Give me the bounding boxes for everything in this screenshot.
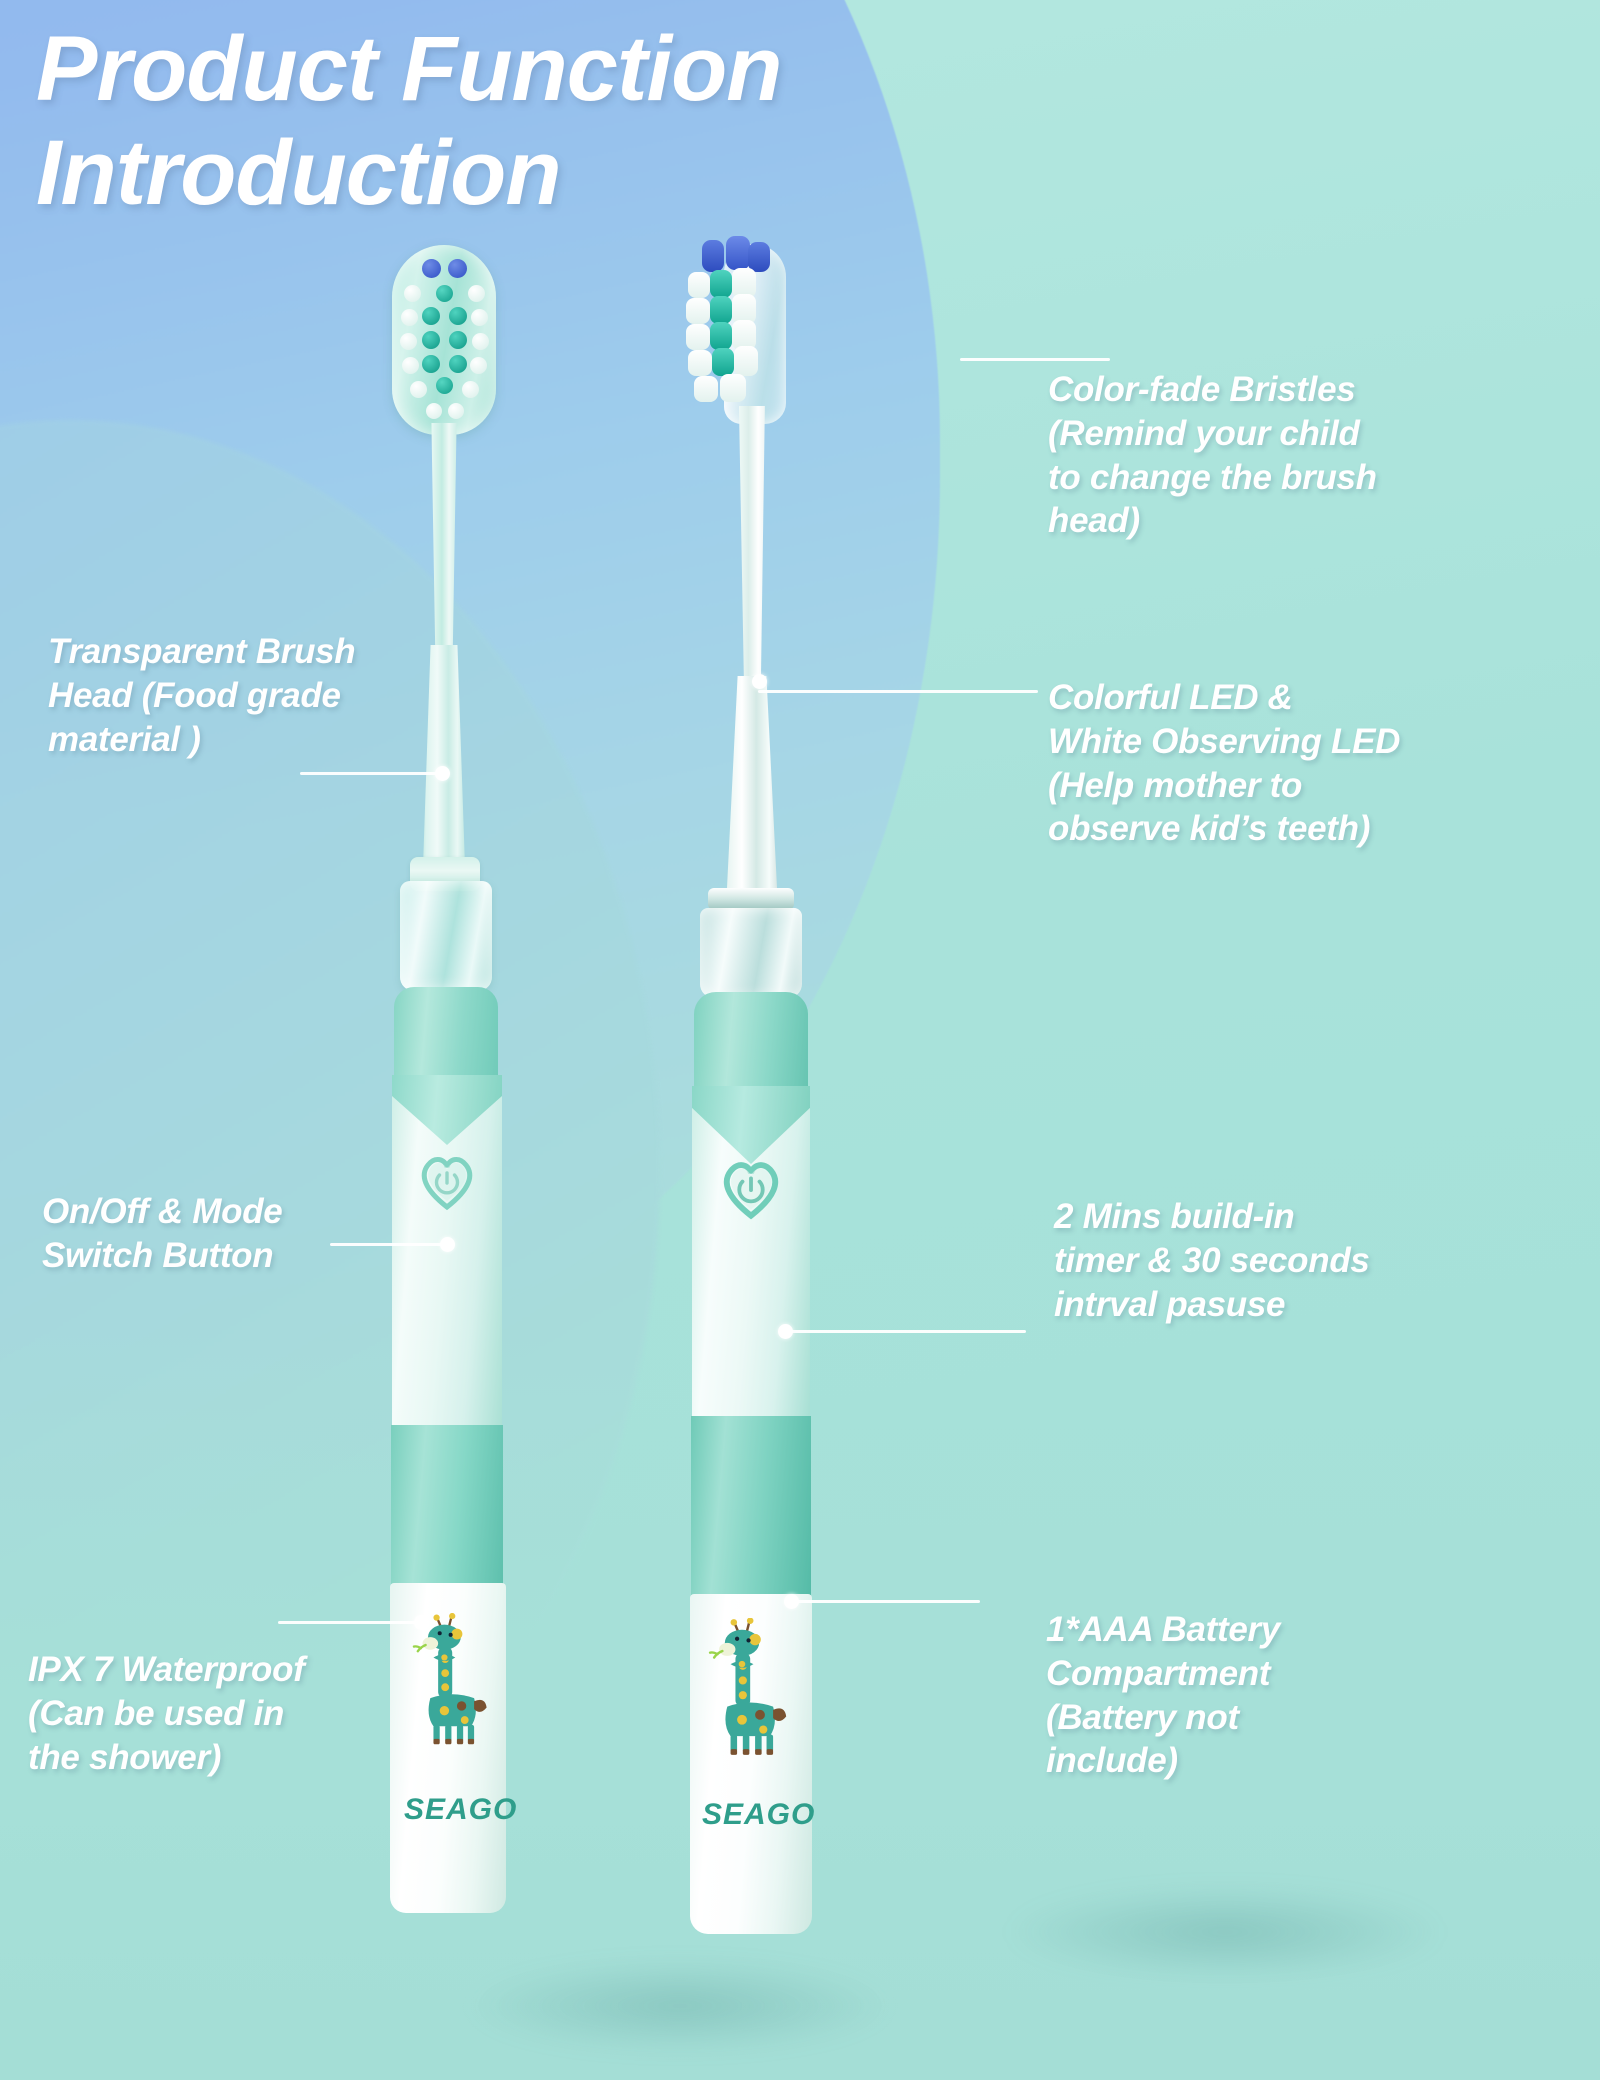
giraffe-icon: [706, 1618, 796, 1774]
page-title-line-2: Introduction: [36, 122, 1196, 226]
bristle-tuft-white: [694, 376, 718, 402]
bristle-tuft-teal: [710, 270, 732, 298]
led-window-left: [400, 881, 492, 991]
bristle-tuft-white: [410, 381, 427, 398]
bristle-tuft-white: [471, 309, 488, 326]
callout-line: Switch Button: [42, 1234, 562, 1278]
leader-line-led: [758, 690, 1038, 693]
handle-band-right: [691, 1416, 811, 1596]
callout-line: Transparent Brush: [48, 630, 568, 674]
bristle-tuft-white: [686, 324, 710, 350]
bristle-tuft-white: [462, 381, 479, 398]
leader-line-bristles: [960, 358, 1110, 361]
bristle-tuft-teal: [449, 331, 467, 349]
callout-line: the shower): [28, 1736, 548, 1780]
brush-bristles-right: [686, 236, 796, 416]
leader-dot-onoff: [440, 1237, 455, 1252]
bristle-tuft-white: [402, 357, 419, 374]
bristle-tuft-teal: [422, 307, 440, 325]
callout-battery: 1*AAA Battery Compartment (Battery not i…: [1046, 1608, 1586, 1783]
callout-ipx7-waterproof: IPX 7 Waterproof (Can be used in the sho…: [28, 1648, 548, 1779]
bristle-tuft-teal: [710, 296, 732, 324]
brush-stem-right: [716, 676, 788, 906]
bristle-tuft-white: [426, 403, 442, 419]
bristle-tuft-blue: [702, 240, 724, 272]
leader-line-ipx7: [278, 1621, 423, 1624]
callout-onoff-switch: On/Off & Mode Switch Button: [42, 1190, 562, 1278]
callout-line: head): [1048, 499, 1588, 543]
bristle-tuft-white: [688, 272, 710, 298]
callout-line: (Help mother to: [1048, 764, 1600, 808]
leader-dot-brush-head: [435, 766, 450, 781]
callout-line: observe kid’s teeth): [1048, 807, 1600, 851]
callout-color-fade-bristles: Color-fade Bristles (Remind your child t…: [1048, 368, 1588, 543]
led-window-right: [700, 908, 802, 998]
bristle-tuft-white: [720, 374, 746, 402]
leader-dot-ipx7: [414, 1615, 429, 1630]
callout-line: Color-fade Bristles: [1048, 368, 1588, 412]
leader-dot-timer: [778, 1324, 793, 1339]
handle-band-left: [391, 1425, 503, 1585]
callout-line: (Can be used in: [28, 1692, 548, 1736]
bristle-tuft-teal: [449, 355, 467, 373]
callout-line: On/Off & Mode: [42, 1190, 562, 1234]
bristle-tuft-white: [734, 346, 758, 376]
callout-line: White Observing LED: [1048, 720, 1600, 764]
callout-line: timer & 30 seconds: [1054, 1239, 1594, 1283]
bristle-tuft-white: [472, 333, 489, 350]
brush-neck-right: [726, 406, 780, 706]
leader-dot-battery: [784, 1594, 799, 1609]
infographic-canvas: Product Function Introduction: [0, 0, 1600, 2080]
bristle-tuft-white: [470, 357, 487, 374]
callout-line: Head (Food grade: [48, 674, 568, 718]
bristle-tuft-white: [686, 298, 710, 324]
shadow-left-brush: [470, 1960, 890, 2052]
bristle-tuft-white: [448, 403, 464, 419]
bristle-tuft-teal: [436, 377, 453, 394]
page-title-line-1: Product Function: [36, 18, 1196, 122]
leader-line-battery: [790, 1600, 980, 1603]
callout-line: include): [1046, 1739, 1586, 1783]
callout-line: (Battery not: [1046, 1696, 1586, 1740]
callout-transparent-brush-head: Transparent Brush Head (Food grade mater…: [48, 630, 568, 761]
brand-logo-left: SEAGO: [404, 1793, 496, 1827]
bristle-tuft-white: [688, 350, 712, 376]
callout-line: intrval pasuse: [1054, 1283, 1594, 1327]
brand-logo-right: SEAGO: [702, 1798, 800, 1832]
callout-line: 2 Mins build-in: [1054, 1195, 1594, 1239]
callout-line: Compartment: [1046, 1652, 1586, 1696]
bristle-tuft-white: [401, 309, 418, 326]
bristle-tuft-white: [404, 285, 421, 302]
callout-line: material ): [48, 718, 568, 762]
callout-line: to change the brush: [1048, 456, 1588, 500]
callout-line: IPX 7 Waterproof: [28, 1648, 548, 1692]
leader-line-onoff: [330, 1243, 445, 1246]
bristle-tuft-white: [400, 333, 417, 350]
leader-dot-led: [752, 674, 767, 689]
bristle-tuft-teal: [422, 355, 440, 373]
bristle-tuft-blue: [448, 259, 467, 278]
bristle-tuft-teal: [449, 307, 467, 325]
bristle-tuft-white: [468, 285, 485, 302]
bristle-tuft-blue: [422, 259, 441, 278]
toothbrush-right: SEAGO: [686, 236, 816, 1936]
bristle-tuft-teal: [436, 285, 453, 302]
leader-line-brush-head: [300, 772, 440, 775]
brush-metal-ring-right: [708, 888, 794, 910]
page-title: Product Function Introduction: [36, 18, 1196, 226]
bristle-tuft-blue: [748, 242, 770, 272]
bristle-tuft-teal: [422, 331, 440, 349]
bristle-tuft-teal: [710, 322, 732, 350]
bristle-tuft-teal: [712, 348, 734, 376]
shadow-right-brush: [1010, 1886, 1440, 1978]
callout-colorful-led: Colorful LED & White Observing LED (Help…: [1048, 676, 1600, 851]
callout-line: 1*AAA Battery: [1046, 1608, 1586, 1652]
leader-line-timer: [786, 1330, 1026, 1333]
callout-timer: 2 Mins build-in timer & 30 seconds intrv…: [1054, 1195, 1594, 1326]
callout-line: Colorful LED &: [1048, 676, 1600, 720]
callout-line: (Remind your child: [1048, 412, 1588, 456]
power-button-right[interactable]: [718, 1156, 784, 1220]
bristle-tuft-blue: [726, 236, 750, 270]
